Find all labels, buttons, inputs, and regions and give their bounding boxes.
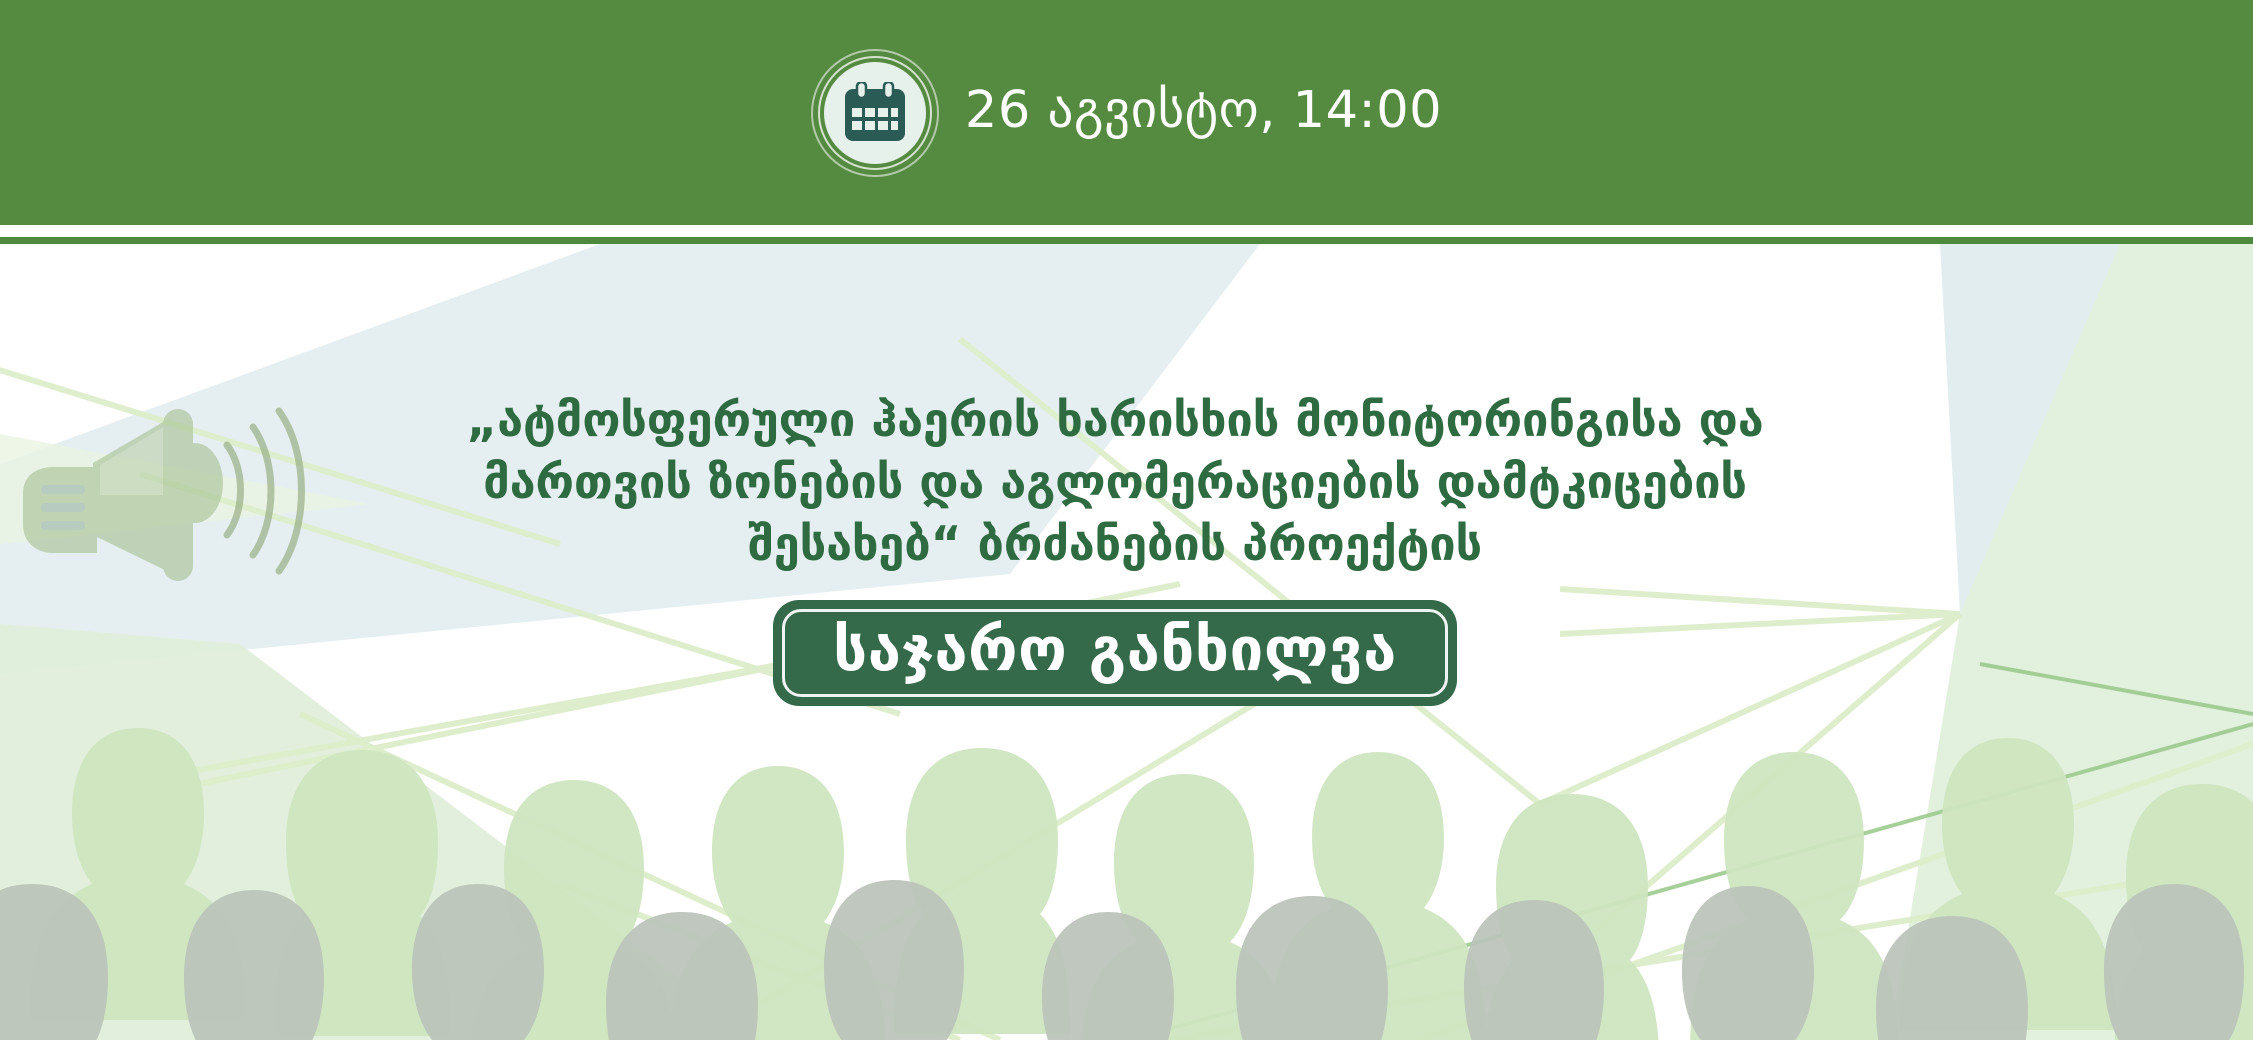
calendar-ring-left: [857, 82, 866, 98]
megaphone-icon: [5, 385, 315, 600]
megaphone-sound-waves: [227, 411, 302, 571]
megaphone-grip-band-3: [41, 521, 85, 530]
event-date-time: 26 აგვისტო, 14:00: [965, 85, 1442, 140]
header-divider-rule: [0, 237, 2253, 244]
calendar-icon: [824, 62, 926, 164]
event-announcement-banner: 26 აგვისტო, 14:00 „ატმოსფერული ჰაერის ხა…: [0, 0, 2253, 1040]
cta-container: საჯარო განხილვა: [300, 600, 1930, 706]
calendar-ring-right: [884, 82, 893, 98]
announcement-title-line-2: მართვის ზონების და აგლომერაციების დამტკი…: [300, 452, 1930, 514]
header-content: 26 აგვისტო, 14:00: [0, 0, 2253, 225]
megaphone-flare: [167, 443, 223, 523]
header-gap-strip: [0, 225, 2253, 237]
megaphone-grip-band-1: [41, 485, 85, 494]
announcement-title: „ატმოსფერული ჰაერის ხარისხის მონიტორინგი…: [300, 390, 1930, 576]
public-discussion-label: საჯარო განხილვა: [833, 620, 1397, 680]
megaphone-horn-highlight: [100, 423, 170, 495]
sound-wave-3: [279, 411, 302, 571]
sound-wave-1: [227, 445, 241, 535]
header-bar: 26 აგვისტო, 14:00: [0, 0, 2253, 225]
announcement-title-line-1: „ატმოსფერული ჰაერის ხარისხის მონიტორინგი…: [300, 390, 1930, 452]
sound-wave-2: [253, 427, 271, 555]
announcement-content: „ატმოსფერული ჰაერის ხარისხის მონიტორინგი…: [300, 390, 1930, 706]
megaphone-grip-band-2: [41, 503, 85, 512]
calendar-badge: [811, 49, 939, 177]
announcement-title-line-3: შესახებ“ ბრძანების პროექტის: [300, 514, 1930, 576]
public-discussion-button[interactable]: საჯარო განხილვა: [773, 600, 1457, 706]
